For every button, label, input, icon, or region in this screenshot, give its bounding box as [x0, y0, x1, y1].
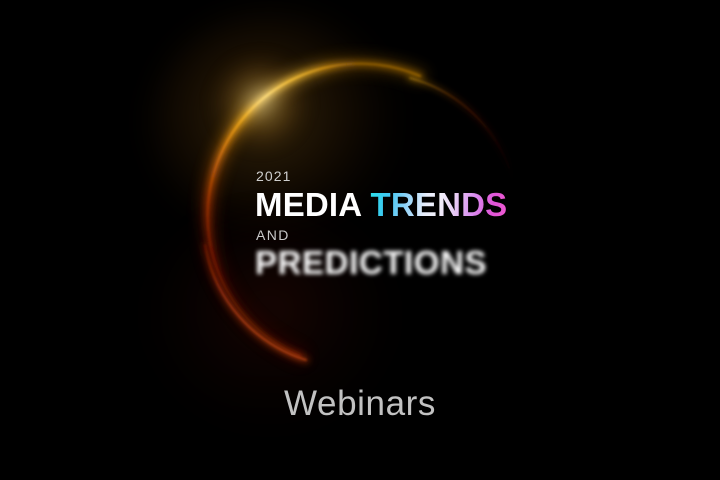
headline-word-predictions: PREDICTIONS	[255, 244, 487, 281]
eclipse-hotspot	[214, 56, 306, 148]
title-text-block: 2021 MEDIA TRENDS AND PREDICTIONS	[255, 168, 675, 282]
headline-line-2: PREDICTIONS	[255, 244, 675, 282]
footer-label: Webinars	[0, 383, 720, 425]
headline-word-media: MEDIA	[255, 186, 370, 223]
conjunction-label: AND	[256, 227, 675, 244]
slide-canvas: 2021 MEDIA TRENDS AND PREDICTIONS Webina…	[0, 0, 720, 480]
headline-line-1: MEDIA TRENDS	[255, 187, 675, 223]
headline-word-trends: TRENDS	[370, 186, 507, 223]
year-label: 2021	[256, 168, 675, 184]
